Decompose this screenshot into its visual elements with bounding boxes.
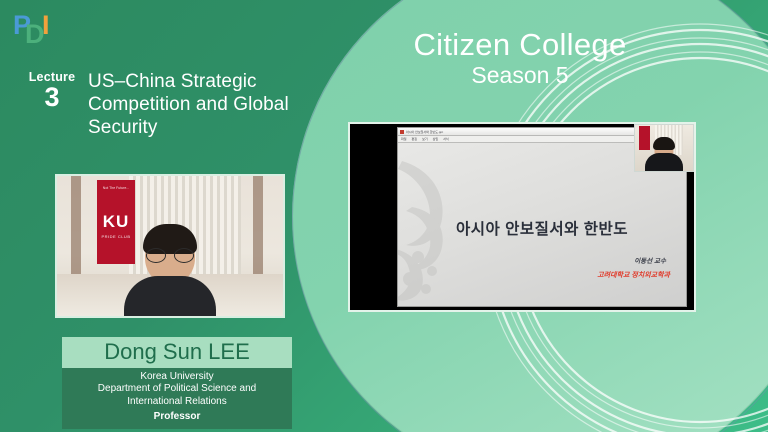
lecture-badge: Lecture 3: [22, 70, 82, 111]
slide-presenter-name: 이동선 교수: [634, 255, 666, 265]
speaker-affiliation: Korea University: [66, 371, 288, 384]
menu-item-file[interactable]: 파일: [401, 137, 407, 141]
menu-item-format[interactable]: 서식: [443, 137, 449, 141]
webcam-speaker-hair: [653, 137, 675, 150]
speaker-department-line2: International Relations: [66, 396, 288, 409]
menu-item-edit[interactable]: 편집: [412, 137, 418, 141]
screen-share-panel: 아시아 안보질서와 한반도.ppt 파일 편집 보기 삽입 서식: [348, 122, 696, 312]
speaker-name-plate: Dong Sun LEE Korea University Department…: [62, 337, 292, 429]
program-header: Citizen College Season 5: [372, 28, 668, 89]
program-season: Season 5: [372, 62, 668, 88]
speaker-glasses-icon: [146, 248, 194, 261]
menu-item-view[interactable]: 보기: [422, 137, 428, 141]
banner-top-text: Not The Future...: [97, 186, 135, 190]
menu-item-insert[interactable]: 삽입: [433, 137, 439, 141]
logo-letter-i: I: [42, 12, 50, 39]
webcam-speaker-torso: [645, 153, 683, 171]
pdi-logo: P D I: [13, 10, 53, 46]
webcam-overlay-thumbnail[interactable]: [634, 124, 694, 172]
speaker-details: Korea University Department of Political…: [62, 368, 292, 429]
presentation-slide: P D I Lecture 3 US–China Strategic Compe…: [0, 0, 768, 432]
program-title: Citizen College: [372, 28, 668, 61]
lobby-pillar-left: [71, 176, 81, 280]
window-title-text: 아시아 안보질서와 한반도.ppt: [406, 130, 657, 134]
lecture-title: US–China Strategic Competition and Globa…: [88, 70, 328, 140]
lecture-number: 3: [22, 83, 82, 111]
speaker-figure: [122, 224, 218, 316]
app-icon: [400, 130, 404, 134]
slide-presenter-affiliation: 고려대학교 정치외교학과: [597, 270, 670, 280]
speaker-video-panel: Not The Future... KU PRIDE CLUB: [55, 174, 285, 318]
speaker-name: Dong Sun LEE: [62, 337, 292, 368]
webcam-speaker-figure: [644, 137, 684, 171]
lobby-pillar-right: [253, 176, 263, 280]
speaker-torso: [124, 276, 216, 316]
speaker-role: Professor: [66, 411, 288, 424]
slide-main-title: 아시아 안보질서와 한반도: [398, 217, 686, 239]
speaker-department-line1: Department of Political Science and: [66, 383, 288, 396]
